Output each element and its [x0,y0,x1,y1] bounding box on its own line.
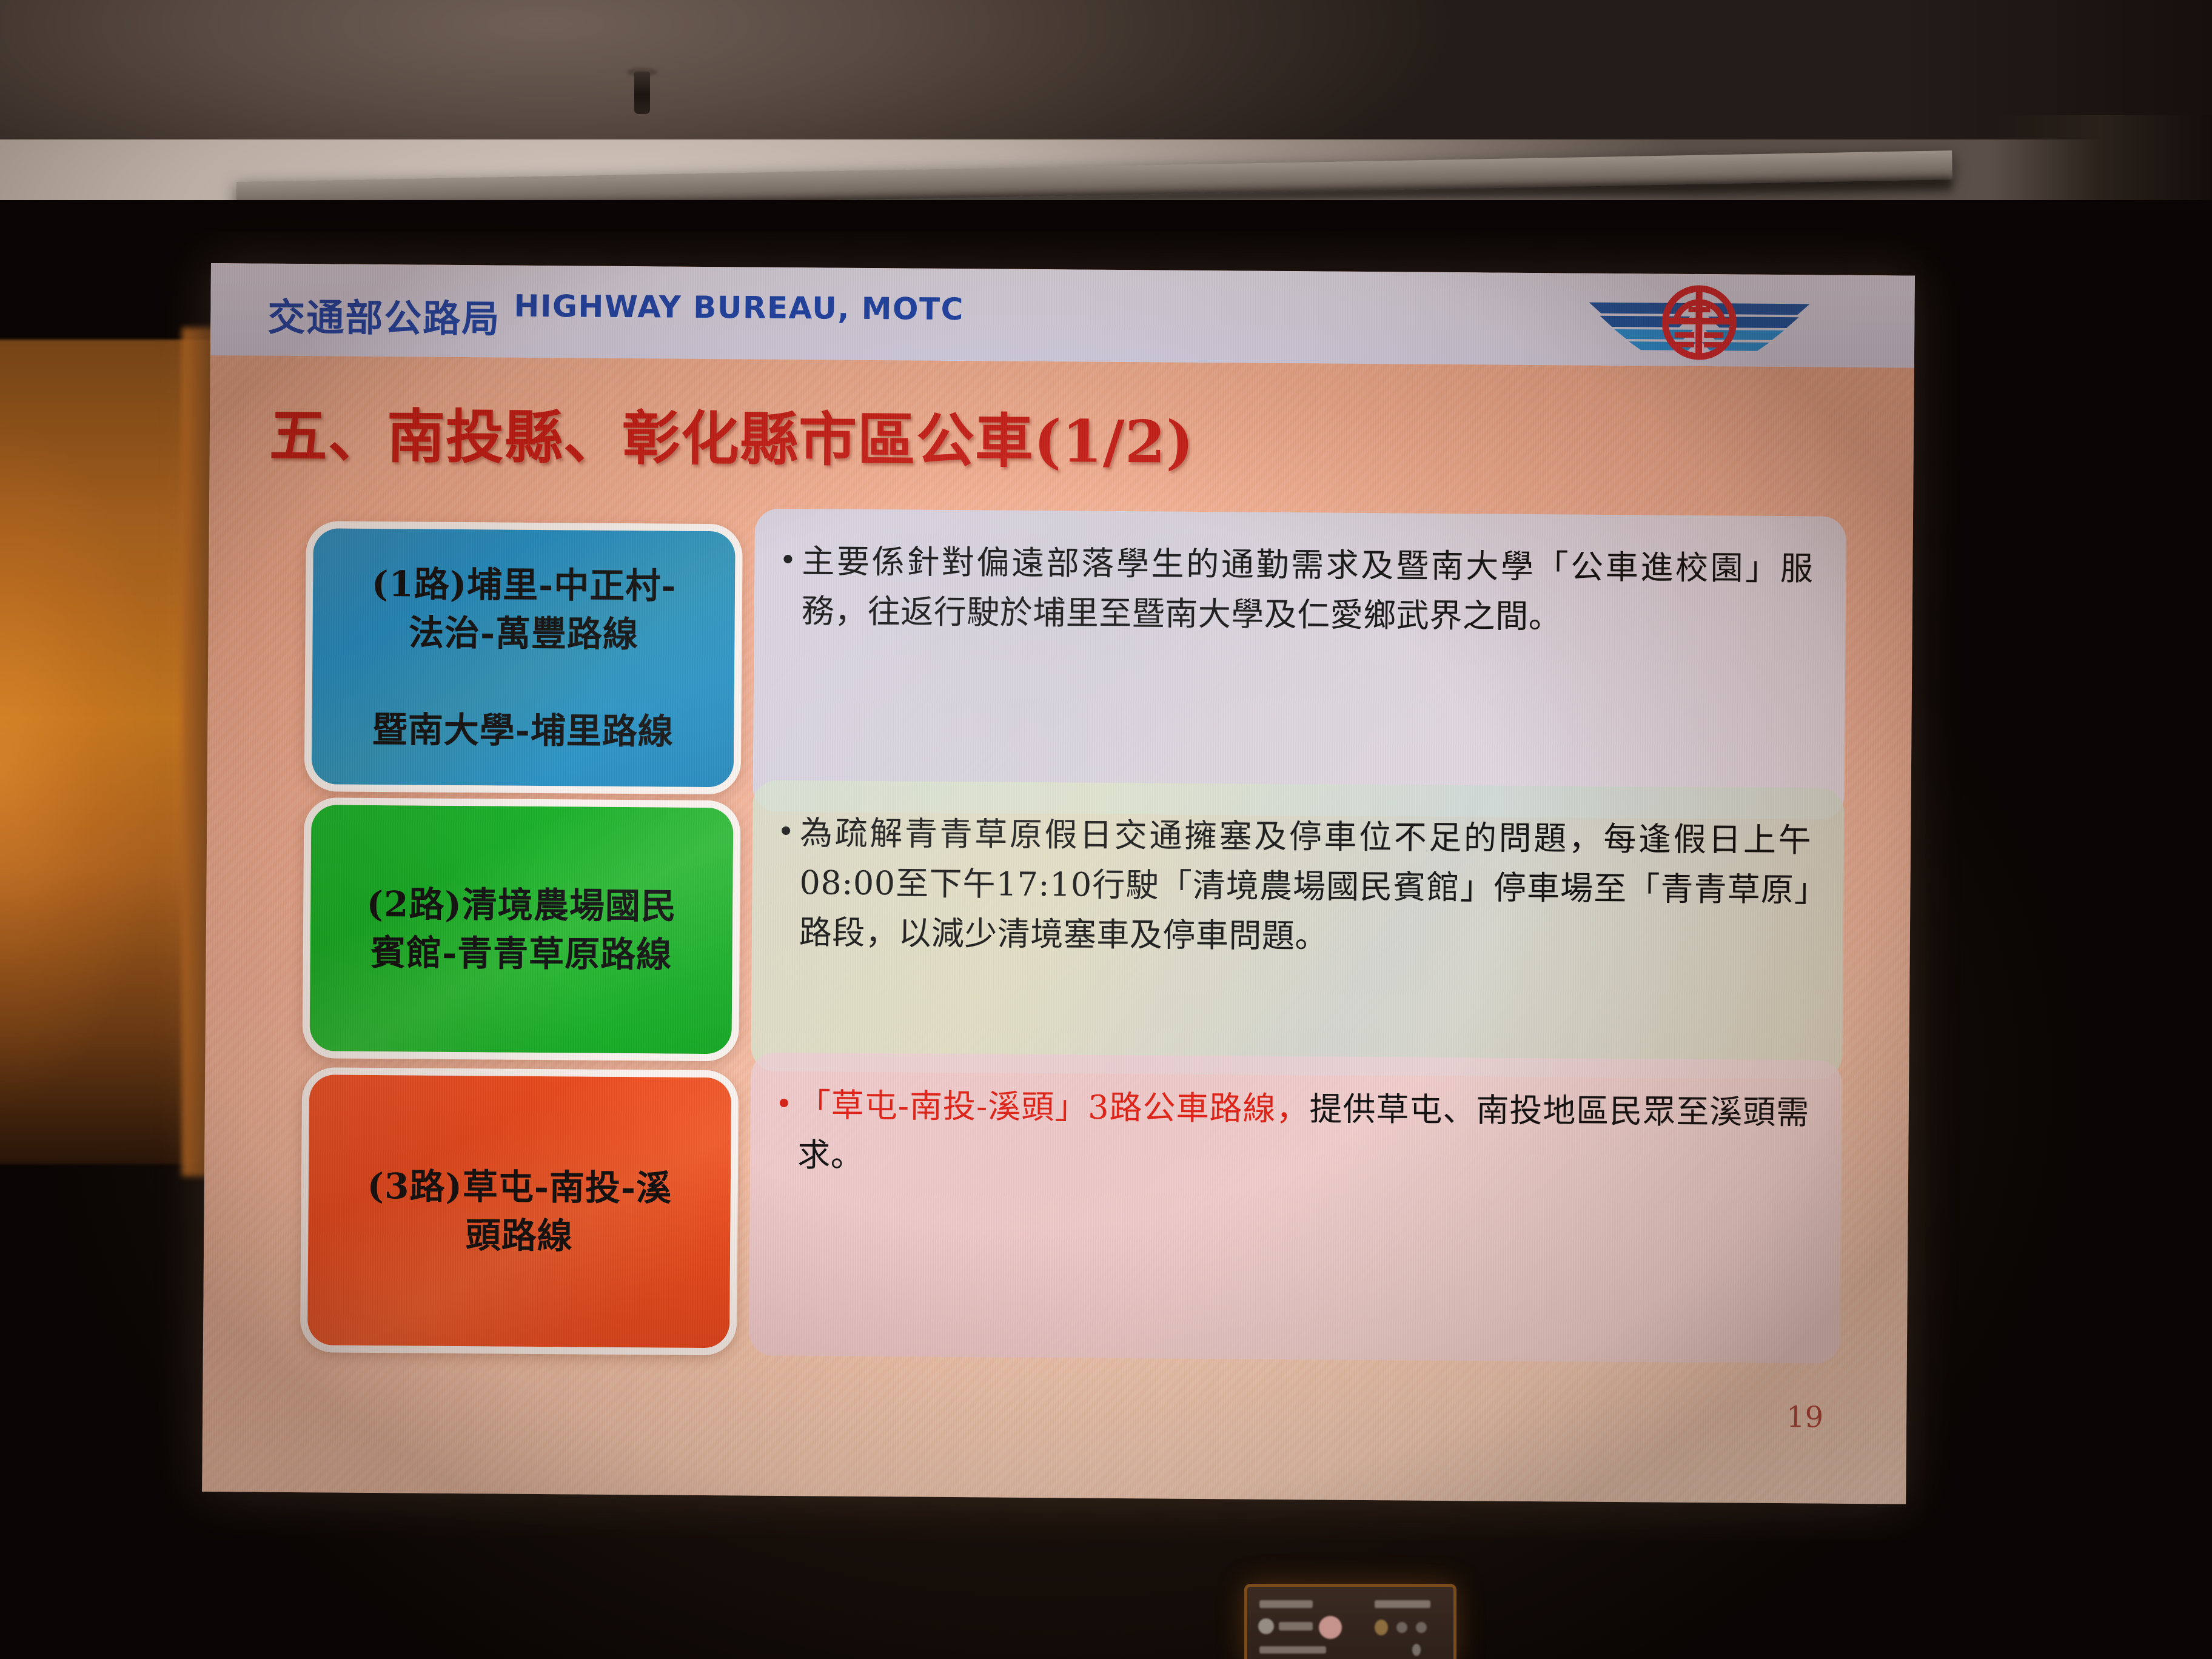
route-label-3-line-1: (3路)草屯-南投-溪 [367,1165,672,1209]
route-description-panel-2: 為疏解青青草原假日交通擁塞及停車位不足的問題，每逢假日上午08:00至下午17:… [751,780,1844,1079]
projected-slide: 交通部公路局HIGHWAY BUREAU, MOTC [202,263,1915,1504]
route-description-panel-3: 「草屯-南投-溪頭」3路公車路線，提供草屯、南投地區民眾至溪頭需求。 [749,1053,1843,1364]
route-description-2: 為疏解青青草原假日交通擁塞及停車位不足的問題，每逢假日上午08:00至下午17:… [799,808,1812,965]
route-row-3: (3路)草屯-南投-溪 頭路線 「草屯-南投-溪頭」3路公車路線，提供草屯、南投… [203,1079,1909,1364]
route-label-3-line-2: 頭路線 [465,1215,573,1256]
route-label-box-1[interactable]: (1路)埔里-中正村- 法治-萬豐路線 暨南大學-埔里路線 [304,521,743,794]
bullet-dot-2 [782,826,790,835]
organization-title-en: HIGHWAY BUREAU, MOTC [514,289,964,327]
route-row-1: (1路)埔里-中正村- 法治-萬豐路線 暨南大學-埔里路線 主要係針對偏遠部落學… [207,530,1913,797]
route-label-1-line-3: 暨南大學-埔里路線 [372,709,674,752]
bullet-dot-3 [780,1099,788,1107]
route-label-1: (1路)埔里-中正村- 法治-萬豐路線 暨南大學-埔里路線 [360,560,688,756]
route-description-3: 「草屯-南投-溪頭」3路公車路線，提供草屯、南投地區民眾至溪頭需求。 [797,1081,1809,1187]
route-label-1-line-1: (1路)埔里-中正村- [372,563,677,607]
bullet-dot-1 [783,555,792,563]
sprinkler-head-icon [634,72,650,114]
page-title: 五、南投縣、彰化縣市區公車(1/2) [269,389,1194,480]
wall-control-panel[interactable] [1244,1584,1456,1659]
room-environment: 交通部公路局HIGHWAY BUREAU, MOTC [0,0,2212,1659]
route-description-panel-1: 主要係針對偏遠部落學生的通勤需求及暨南大學「公車進校園」服務，往返行駛於埔里至暨… [752,509,1846,820]
route-label-2: (2路)清境農場國民 賓館-青青草原路線 [355,880,688,979]
route-label-box-3[interactable]: (3路)草屯-南投-溪 頭路線 [300,1067,739,1355]
route-label-box-2[interactable]: (2路)清境農場國民 賓館-青青草原路線 [302,797,740,1061]
route-row-2: (2路)清境農場國民 賓館-青青草原路線 為疏解青青草原假日交通擁塞及停車位不足… [205,803,1911,1070]
route-label-2-line-1: (2路)清境農場國民 [366,883,677,927]
page-number: 19 [1786,1400,1823,1434]
route-description-3-highlight: 「草屯-南投-溪頭」3路公車路線， [798,1086,1310,1128]
route-label-1-line-2: 法治-萬豐路線 [409,612,639,655]
organization-title: 交通部公路局HIGHWAY BUREAU, MOTC [267,287,501,343]
slide-header-band: 交通部公路局HIGHWAY BUREAU, MOTC [210,263,1915,368]
highway-bureau-logo-icon [1584,282,1815,361]
route-description-1: 主要係針對偏遠部落學生的通勤需求及暨南大學「公車進校園」服務，往返行駛於埔里至暨… [802,537,1814,643]
route-label-2-line-2: 賓館-青青草原路線 [370,932,672,976]
organization-title-zh: 交通部公路局 [267,295,501,341]
route-label-3: (3路)草屯-南投-溪 頭路線 [356,1162,683,1261]
